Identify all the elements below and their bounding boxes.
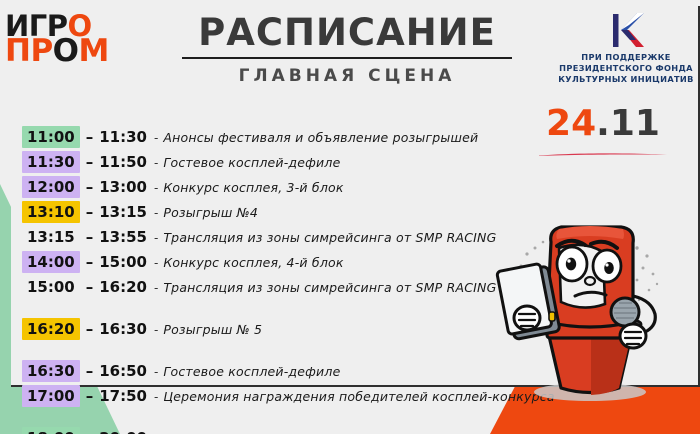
date-underline-stroke bbox=[538, 152, 668, 157]
row-description: Гостевое косплей-дефиле bbox=[163, 155, 340, 170]
row-end-time: 17:50 bbox=[99, 387, 147, 405]
row-start-time: 15:00 bbox=[22, 276, 80, 298]
row-desc-separator: - bbox=[147, 323, 163, 337]
row-start-time: 13:15 bbox=[22, 226, 80, 248]
fund-line-2: ПРЕЗИДЕНТСКОГО ФОНДА bbox=[556, 63, 696, 74]
title-block: РАСПИСАНИЕ ГЛАВНАЯ СЦЕНА bbox=[182, 14, 512, 86]
red-robot-mascot-icon bbox=[487, 196, 687, 421]
row-time-separator: – bbox=[80, 387, 100, 405]
schedule-row: 16:30–16:50-Гостевое косплей-дефиле bbox=[22, 360, 492, 385]
fund-line-3: КУЛЬТУРНЫХ ИНИЦИАТИВ bbox=[556, 74, 696, 85]
schedule-row: 14:00–15:00-Конкурс косплея, 4-й блок bbox=[22, 251, 492, 276]
row-time-separator: – bbox=[80, 128, 100, 146]
mascot-illustration bbox=[487, 196, 687, 421]
row-desc-separator: - bbox=[147, 131, 163, 145]
row-end-time: 13:15 bbox=[99, 203, 147, 221]
row-end-time: 20:00 bbox=[99, 429, 147, 434]
schedule-row: 18:00–20:00-Церемония награждения премии… bbox=[22, 427, 492, 434]
row-end-time: 13:00 bbox=[99, 178, 147, 196]
fund-text-block: ПРИ ПОДДЕРЖКЕ ПРЕЗИДЕНТСКОГО ФОНДА КУЛЬТ… bbox=[556, 52, 696, 84]
logo-text-pr: ПР bbox=[5, 33, 53, 69]
row-desc-separator: - bbox=[147, 206, 163, 220]
page-title: РАСПИСАНИЕ bbox=[182, 14, 512, 53]
row-start-time: 11:30 bbox=[22, 151, 80, 173]
row-time-separator: – bbox=[80, 429, 100, 434]
fund-line-1: ПРИ ПОДДЕРЖКЕ bbox=[556, 52, 696, 63]
row-time-separator: – bbox=[80, 178, 100, 196]
row-description: Трансляция из зоны симрейсинга от SMP RA… bbox=[163, 230, 496, 245]
logo-text-o2: О bbox=[53, 33, 79, 69]
date-day: 24 bbox=[546, 103, 596, 144]
schedule-row: 13:15–13:55-Трансляция из зоны симрейсин… bbox=[22, 226, 492, 251]
row-desc-separator: - bbox=[147, 256, 163, 270]
row-description: Конкурс косплея, 3-й блок bbox=[163, 180, 343, 195]
igroprom-logo: ИГРО ПРОМ bbox=[5, 14, 135, 64]
row-start-time: 11:00 bbox=[22, 126, 80, 148]
schedule-row: 12:00–13:00-Конкурс косплея, 3-й блок bbox=[22, 176, 492, 201]
event-date: 24.11 bbox=[528, 106, 678, 161]
row-start-time: 16:30 bbox=[22, 360, 80, 382]
row-end-time: 15:00 bbox=[99, 253, 147, 271]
russian-flag-k-icon bbox=[603, 10, 649, 50]
row-time-separator: – bbox=[80, 153, 100, 171]
row-end-time: 11:30 bbox=[99, 128, 147, 146]
presidential-fund-logo: ПРИ ПОДДЕРЖКЕ ПРЕЗИДЕНТСКОГО ФОНДА КУЛЬТ… bbox=[556, 10, 696, 84]
row-desc-separator: - bbox=[147, 390, 163, 404]
row-time-separator: – bbox=[80, 320, 100, 338]
schedule-row: 17:00–17:50-Церемония награждения победи… bbox=[22, 385, 492, 410]
row-description: Конкурс косплея, 4-й блок bbox=[163, 255, 343, 270]
row-time-separator: – bbox=[80, 362, 100, 380]
row-desc-separator: - bbox=[147, 156, 163, 170]
row-end-time: 11:50 bbox=[99, 153, 147, 171]
row-description: Гостевое косплей-дефиле bbox=[163, 364, 340, 379]
row-time-separator: – bbox=[80, 253, 100, 271]
row-desc-separator: - bbox=[147, 281, 163, 295]
page-subtitle: ГЛАВНАЯ СЦЕНА bbox=[182, 66, 512, 86]
schedule-row: 11:00–11:30-Анонсы фестиваля и объявлени… bbox=[22, 126, 492, 151]
row-time-separator: – bbox=[80, 203, 100, 221]
row-description: Анонсы фестиваля и объявление розыгрышей bbox=[163, 130, 478, 145]
schedule-row: 16:20–16:30-Розыгрыш № 5 bbox=[22, 318, 492, 343]
title-divider bbox=[182, 57, 512, 59]
row-start-time: 14:00 bbox=[22, 251, 80, 273]
logo-text-m: М bbox=[79, 33, 109, 69]
row-description: Трансляция из зоны симрейсинга от SMP RA… bbox=[163, 280, 496, 295]
logo-line-2: ПРОМ bbox=[5, 38, 135, 64]
row-end-time: 13:55 bbox=[99, 228, 147, 246]
schedule-row: 15:00–16:20-Трансляция из зоны симрейсин… bbox=[22, 276, 492, 301]
row-desc-separator: - bbox=[147, 231, 163, 245]
row-end-time: 16:30 bbox=[99, 320, 147, 338]
date-number: 24.11 bbox=[528, 106, 678, 142]
schedule-row: 13:10–13:15-Розыгрыш №4 bbox=[22, 201, 492, 226]
row-end-time: 16:50 bbox=[99, 362, 147, 380]
row-time-separator: – bbox=[80, 278, 100, 296]
row-start-time: 16:20 bbox=[22, 318, 80, 340]
row-start-time: 13:10 bbox=[22, 201, 80, 223]
schedule-row: 11:30–11:50-Гостевое косплей-дефиле bbox=[22, 151, 492, 176]
poster-header: ИГРО ПРОМ РАСПИСАНИЕ ГЛАВНАЯ СЦЕНА ПРИ П… bbox=[0, 0, 689, 105]
schedule-list: 11:00–11:30-Анонсы фестиваля и объявлени… bbox=[22, 126, 492, 434]
fund-k-mark bbox=[556, 10, 696, 50]
date-month: .11 bbox=[596, 103, 660, 144]
row-desc-separator: - bbox=[147, 181, 163, 195]
row-start-time: 12:00 bbox=[22, 176, 80, 198]
row-description: Розыгрыш №4 bbox=[163, 205, 258, 220]
row-start-time: 18:00 bbox=[22, 427, 80, 434]
row-start-time: 17:00 bbox=[22, 385, 80, 407]
row-desc-separator: - bbox=[147, 365, 163, 379]
poster-root: ИГРО ПРОМ РАСПИСАНИЕ ГЛАВНАЯ СЦЕНА ПРИ П… bbox=[0, 0, 700, 434]
row-time-separator: – bbox=[80, 228, 100, 246]
row-description: Розыгрыш № 5 bbox=[163, 322, 262, 337]
row-end-time: 16:20 bbox=[99, 278, 147, 296]
